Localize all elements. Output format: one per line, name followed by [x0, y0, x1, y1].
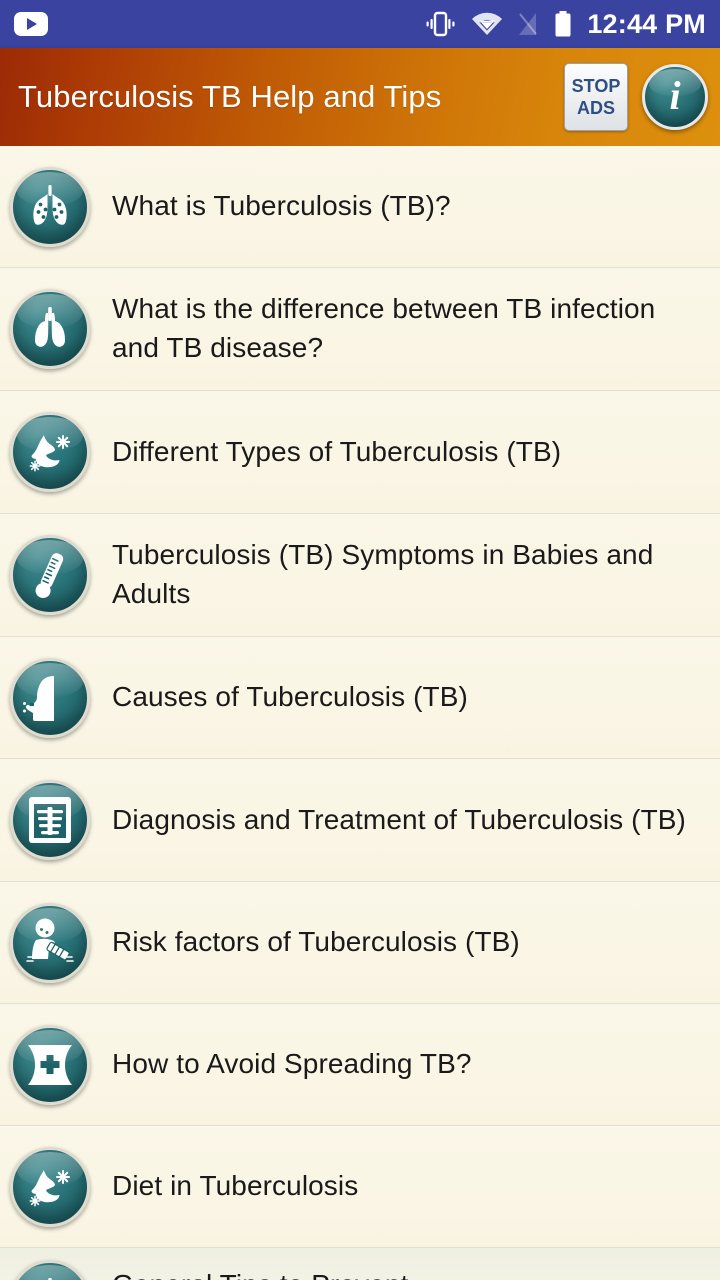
list-item-label: Diet in Tuberculosis: [112, 1167, 358, 1206]
page-title: Tuberculosis TB Help and Tips: [18, 79, 564, 115]
list-item-label: What is the difference between TB infect…: [112, 290, 706, 367]
status-bar-clock: 12:44 PM: [587, 11, 706, 38]
status-bar-system-icons: 12:44 PM: [423, 10, 706, 38]
list-item[interactable]: How to Avoid Spreading TB?: [0, 1004, 720, 1126]
vibrate-icon: [423, 10, 457, 38]
list-item[interactable]: Tuberculosis (TB) Symptoms in Babies and…: [0, 514, 720, 637]
list-item[interactable]: Risk factors of Tuberculosis (TB): [0, 882, 720, 1004]
list-item[interactable]: Diet in Tuberculosis: [0, 1126, 720, 1248]
list-item-label: Risk factors of Tuberculosis (TB): [112, 923, 520, 962]
battery-full-icon: [553, 10, 573, 38]
lungs-spots-icon: [10, 167, 90, 247]
list-item[interactable]: Different Types of Tuberculosis (TB): [0, 391, 720, 514]
info-button[interactable]: i: [642, 64, 708, 130]
list-item[interactable]: Diagnosis and Treatment of Tuberculosis …: [0, 759, 720, 882]
xray-icon: [10, 780, 90, 860]
info-icon: i: [669, 76, 680, 116]
stop-ads-label-line1: STOP: [572, 75, 621, 98]
injured-person-icon: [10, 903, 90, 983]
list-item[interactable]: Causes of Tuberculosis (TB): [0, 637, 720, 759]
first-aid-banner-icon: [10, 1025, 90, 1105]
list-item-label: How to Avoid Spreading TB?: [112, 1045, 472, 1084]
status-bar: 12:44 PM: [0, 0, 720, 48]
list-item-label: Diagnosis and Treatment of Tuberculosis …: [112, 801, 686, 840]
lungs-icon: [10, 1260, 90, 1280]
status-bar-notifications: [14, 12, 423, 36]
nose-sneeze-icon: [10, 1147, 90, 1227]
list-item-label: Different Types of Tuberculosis (TB): [112, 433, 561, 472]
youtube-icon: [14, 12, 48, 36]
nose-sneeze-icon: [10, 412, 90, 492]
thermometer-icon: [10, 535, 90, 615]
app-bar: Tuberculosis TB Help and Tips STOP ADS i: [0, 48, 720, 146]
lungs-icon: [10, 289, 90, 369]
stop-ads-label-line2: ADS: [577, 97, 615, 120]
list-item-label: What is Tuberculosis (TB)?: [112, 187, 451, 226]
signal-off-icon: [517, 11, 539, 37]
list-item-label: Causes of Tuberculosis (TB): [112, 678, 468, 717]
list-item[interactable]: What is Tuberculosis (TB)?: [0, 146, 720, 268]
list-item[interactable]: What is the difference between TB infect…: [0, 268, 720, 391]
wifi-icon: [471, 11, 503, 37]
coughing-person-icon: [10, 658, 90, 738]
topic-list[interactable]: What is Tuberculosis (TB)? What is the d…: [0, 146, 720, 1280]
list-item-label: General Tips to Prevent: [112, 1266, 408, 1280]
list-item-label: Tuberculosis (TB) Symptoms in Babies and…: [112, 536, 706, 613]
list-item[interactable]: General Tips to Prevent: [0, 1248, 720, 1280]
stop-ads-button[interactable]: STOP ADS: [564, 63, 628, 131]
